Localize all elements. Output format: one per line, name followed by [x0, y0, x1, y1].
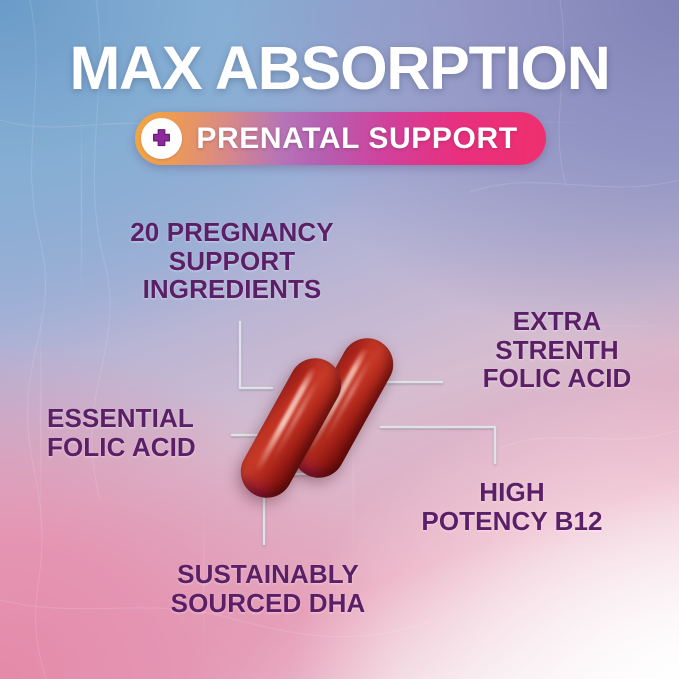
callout-high-potency-b12: HIGH POTENCY B12	[392, 478, 632, 535]
badge-icon-circle	[141, 118, 182, 159]
badge-label: PRENATAL SUPPORT	[182, 122, 546, 156]
callout-ingredients: 20 PREGNANCY SUPPORT INGREDIENTS	[98, 218, 366, 304]
callout-extra-strength-folic-acid: EXTRA STRENTH FOLIC ACID	[442, 307, 672, 393]
medical-cross-icon	[148, 125, 175, 152]
callout-sustainably-sourced-dha: SUSTAINABLY SOURCED DHA	[128, 560, 408, 617]
prenatal-support-badge: PRENATAL SUPPORT	[135, 112, 546, 165]
page-title: MAX ABSORPTION	[0, 38, 679, 99]
